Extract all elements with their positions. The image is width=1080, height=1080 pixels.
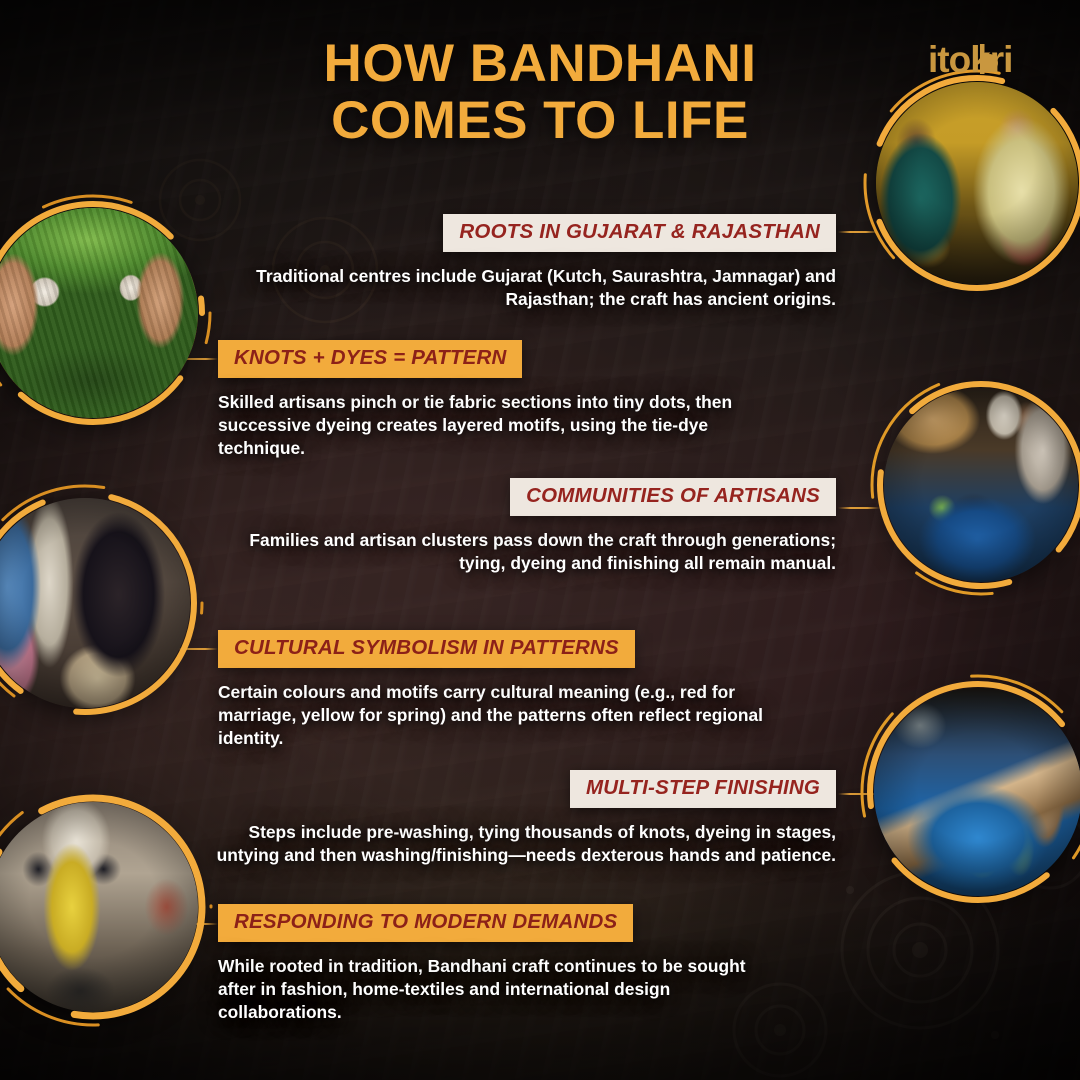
page-title-line-2: COMES TO LIFE — [150, 93, 930, 150]
itokri-logo[interactable]: itokri — [926, 36, 1046, 82]
photo-woman-artisan-workshop — [0, 498, 190, 708]
section-heading-communities: COMMUNITIES OF ARTISANS — [510, 478, 836, 516]
svg-text:itokri: itokri — [928, 39, 1012, 80]
photo-cloth-in-blue-vat — [874, 688, 1080, 896]
section-roots: ROOTS IN GUJARAT & RAJASTHAN Traditional… — [236, 214, 836, 311]
section-body-modern-demands: While rooted in tradition, Bandhani craf… — [218, 955, 778, 1025]
section-communities: COMMUNITIES OF ARTISANS Families and art… — [206, 478, 836, 575]
section-heading-finishing: MULTI-STEP FINISHING — [570, 770, 836, 808]
section-knots-dyes: KNOTS + DYES = PATTERN Skilled artisans … — [218, 340, 778, 460]
section-heading-symbolism: CULTURAL SYMBOLISM IN PATTERNS — [218, 630, 635, 668]
connector-line-communities — [838, 507, 880, 509]
photo-circle-cloth-in-blue-vat — [864, 678, 1080, 906]
section-body-symbolism: Certain colours and motifs carry cultura… — [218, 681, 788, 751]
section-body-knots-dyes: Skilled artisans pinch or tie fabric sec… — [218, 391, 778, 461]
section-heading-roots: ROOTS IN GUJARAT & RAJASTHAN — [443, 214, 836, 252]
photo-circle-artisan-yellow-dye — [0, 792, 208, 1022]
photo-hands-tying-red-fabric — [0, 208, 198, 418]
photo-artisan-yellow-dye — [0, 802, 198, 1012]
section-heading-modern-demands: RESPONDING TO MODERN DEMANDS — [218, 904, 633, 942]
section-body-finishing: Steps include pre-washing, tying thousan… — [216, 821, 836, 868]
section-body-roots: Traditional centres include Gujarat (Kut… — [236, 265, 836, 312]
page-title: HOW BANDHANI COMES TO LIFE — [0, 36, 1080, 149]
infographic-poster: HOW BANDHANI COMES TO LIFE itokri — [0, 0, 1080, 1080]
photo-dyer-at-blue-tub — [884, 388, 1078, 582]
section-finishing: MULTI-STEP FINISHING Steps include pre-w… — [216, 770, 836, 867]
section-heading-knots-dyes: KNOTS + DYES = PATTERN — [218, 340, 522, 378]
photo-circle-dyer-at-blue-tub — [874, 378, 1080, 592]
section-symbolism: CULTURAL SYMBOLISM IN PATTERNS Certain c… — [218, 630, 788, 750]
page-title-line-1: HOW BANDHANI — [324, 34, 757, 93]
photo-circle-woman-artisan-workshop — [0, 488, 200, 718]
photo-circle-hands-tying-red-fabric — [0, 198, 208, 428]
section-modern-demands: RESPONDING TO MODERN DEMANDS While roote… — [218, 904, 778, 1024]
section-body-communities: Families and artisan clusters pass down … — [206, 529, 836, 576]
connector-line-roots — [838, 231, 878, 233]
